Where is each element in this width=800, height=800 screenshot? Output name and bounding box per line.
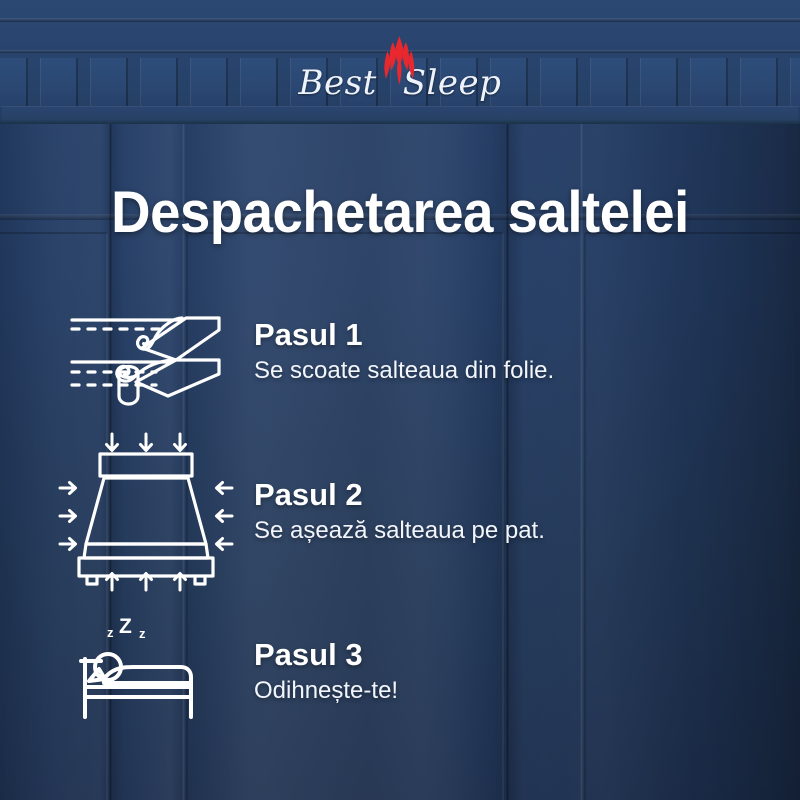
brand-logo: Best Sleep (0, 34, 800, 100)
page-title: Despachetarea saltelei (24, 179, 776, 246)
step-2-title: Pasul 2 (254, 478, 545, 513)
step-1-title: Pasul 1 (254, 318, 554, 353)
cornice-rail-upper (0, 18, 800, 22)
step-3-text: Pasul 3 Odihnește-te! (236, 638, 398, 707)
person-sleeping-in-bed-icon: z Z z (71, 617, 221, 727)
brand-word-sleep: Sleep (403, 66, 502, 100)
mattress-unrolling-from-plastic-icon (64, 300, 229, 405)
step-3-description: Odihnește-te! (254, 676, 398, 706)
zzz-large: Z (119, 615, 132, 638)
step-2-icon-wrap (56, 432, 236, 592)
step-1-text: Pasul 1 Se scoate salteaua din folie. (236, 318, 554, 387)
bed-with-inward-arrows-icon (60, 432, 232, 592)
flame-icon (382, 36, 416, 88)
step-item-3: z Z z Pasul 3 Odihnește-te! (0, 592, 800, 752)
step-item-1: Pasul 1 Se scoate salteaua din folie. (0, 272, 800, 432)
step-3-title: Pasul 3 (254, 638, 398, 673)
step-2-description: Se așează salteaua pe pat. (254, 516, 545, 546)
step-3-icon-wrap: z Z z (56, 617, 236, 727)
cornice-base-band (0, 106, 800, 124)
step-1-icon-wrap (56, 300, 236, 405)
step-2-text: Pasul 2 Se așează salteaua pe pat. (236, 478, 545, 547)
poster-canvas: Best Sleep Despachetarea saltelei (0, 0, 800, 800)
brand-word-best: Best (299, 66, 377, 100)
zzz-small-right: z (139, 626, 146, 641)
steps-list: Pasul 1 Se scoate salteaua din folie. (0, 272, 800, 752)
zzz-small-left: z (107, 625, 114, 640)
step-item-2: Pasul 2 Se așează salteaua pe pat. (0, 432, 800, 592)
step-1-description: Se scoate salteaua din folie. (254, 356, 554, 386)
